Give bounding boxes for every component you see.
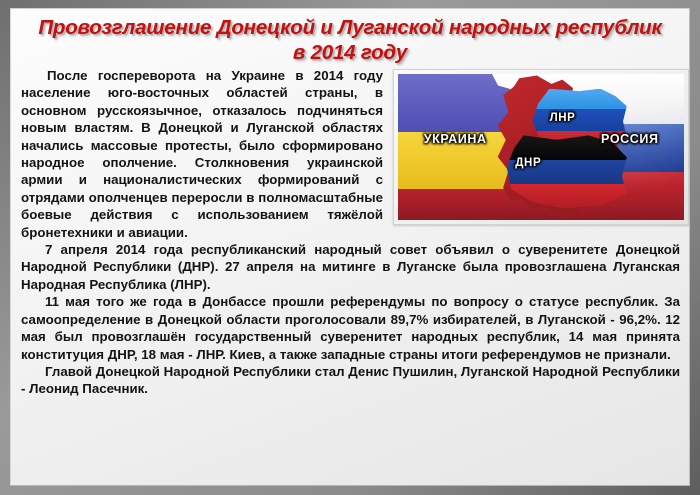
map-label-ukraine: УКРАИНА	[424, 132, 487, 146]
map-donbass-ukraine-russia: УКРАИНА РОССИЯ ЛНР ДНР	[398, 74, 684, 220]
map-figure: УКРАИНА РОССИЯ ЛНР ДНР	[393, 69, 689, 225]
paragraph-2: 7 апреля 2014 года республиканский народ…	[21, 241, 680, 293]
map-label-dnr: ДНР	[515, 157, 541, 169]
lnr-flag-blue-stripe	[532, 109, 626, 130]
page-title: Провозглашение Донецкой и Луганской наро…	[11, 9, 689, 65]
slide-frame: Провозглашение Донецкой и Луганской наро…	[0, 0, 700, 495]
paragraph-4: Главой Донецкой Народной Республики стал…	[21, 363, 680, 398]
map-label-lnr: ЛНР	[550, 112, 576, 124]
paragraph-3: 11 мая того же года в Донбассе прошли ре…	[21, 293, 680, 363]
slide-content: Провозглашение Донецкой и Луганской наро…	[10, 8, 690, 486]
map-label-russia: РОССИЯ	[601, 132, 659, 146]
